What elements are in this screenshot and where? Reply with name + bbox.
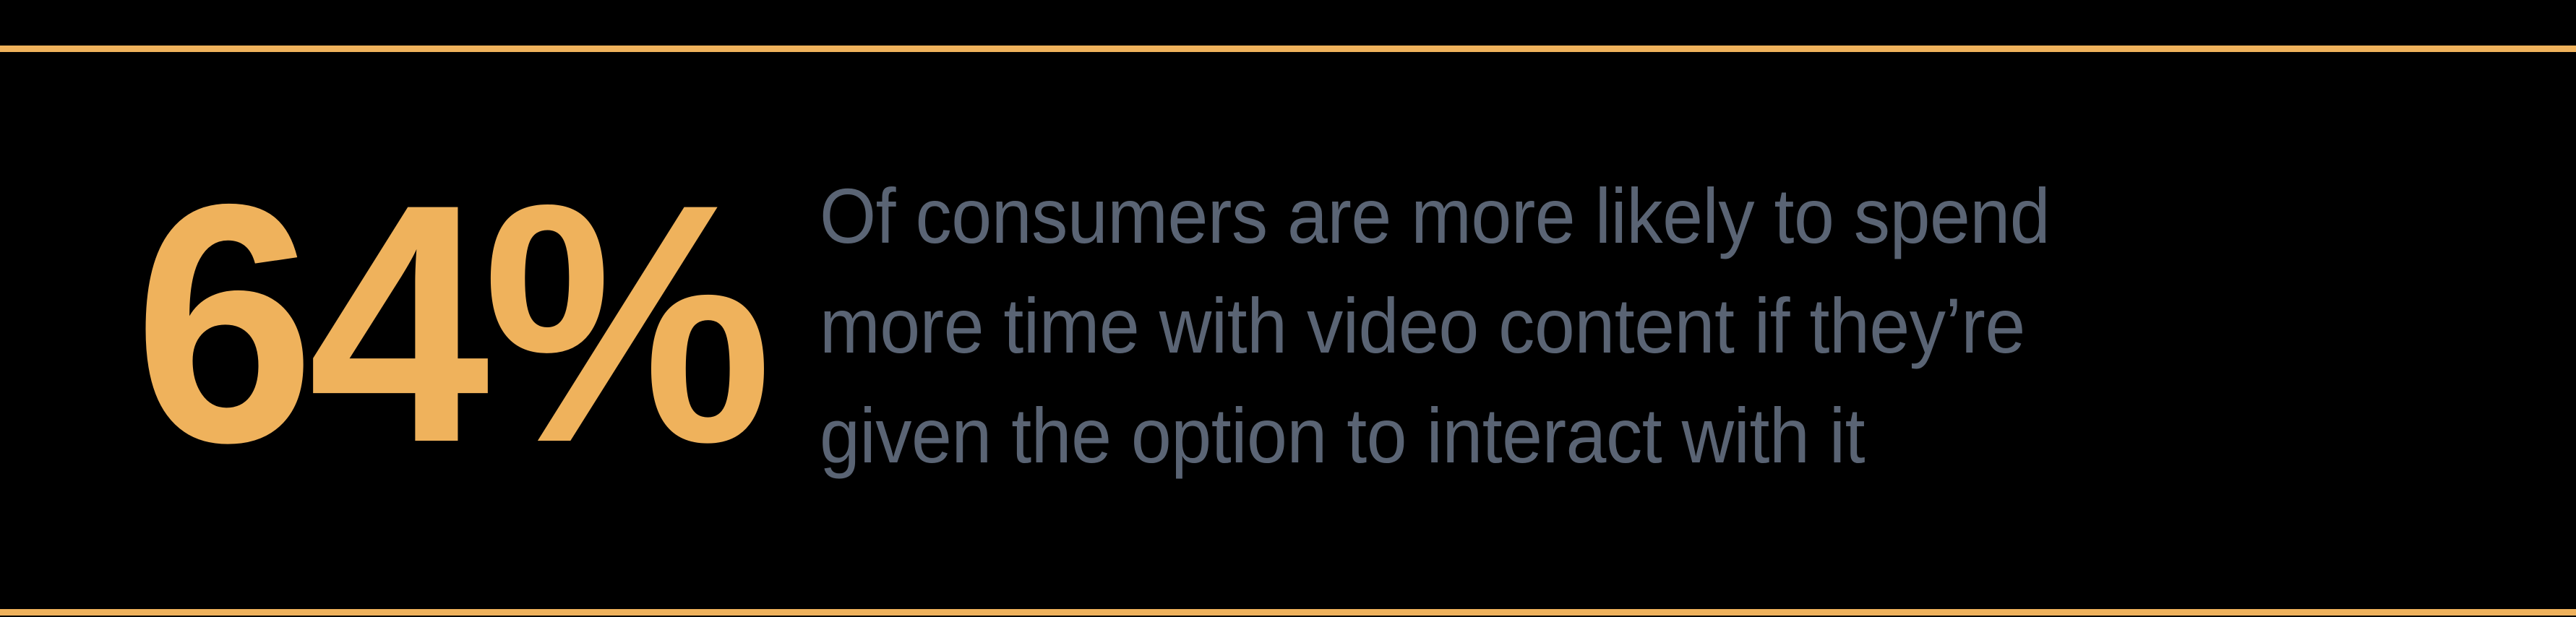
bottom-accent-rule [0,609,2576,616]
stat-description-line-1: Of consumers are more likely to spend [820,161,2050,271]
stat-description: Of consumers are more likely to spend mo… [820,161,2050,501]
stat-description-line-3: given the option to interact with it [820,381,2050,491]
stat-callout-banner: 64% Of consumers are more likely to spen… [0,0,2576,617]
stat-description-line-2: more time with video content if they’re [820,271,2050,381]
stat-percentage: 64% [134,183,765,478]
banner-content: 64% Of consumers are more likely to spen… [0,52,2576,609]
top-accent-rule [0,46,2576,52]
